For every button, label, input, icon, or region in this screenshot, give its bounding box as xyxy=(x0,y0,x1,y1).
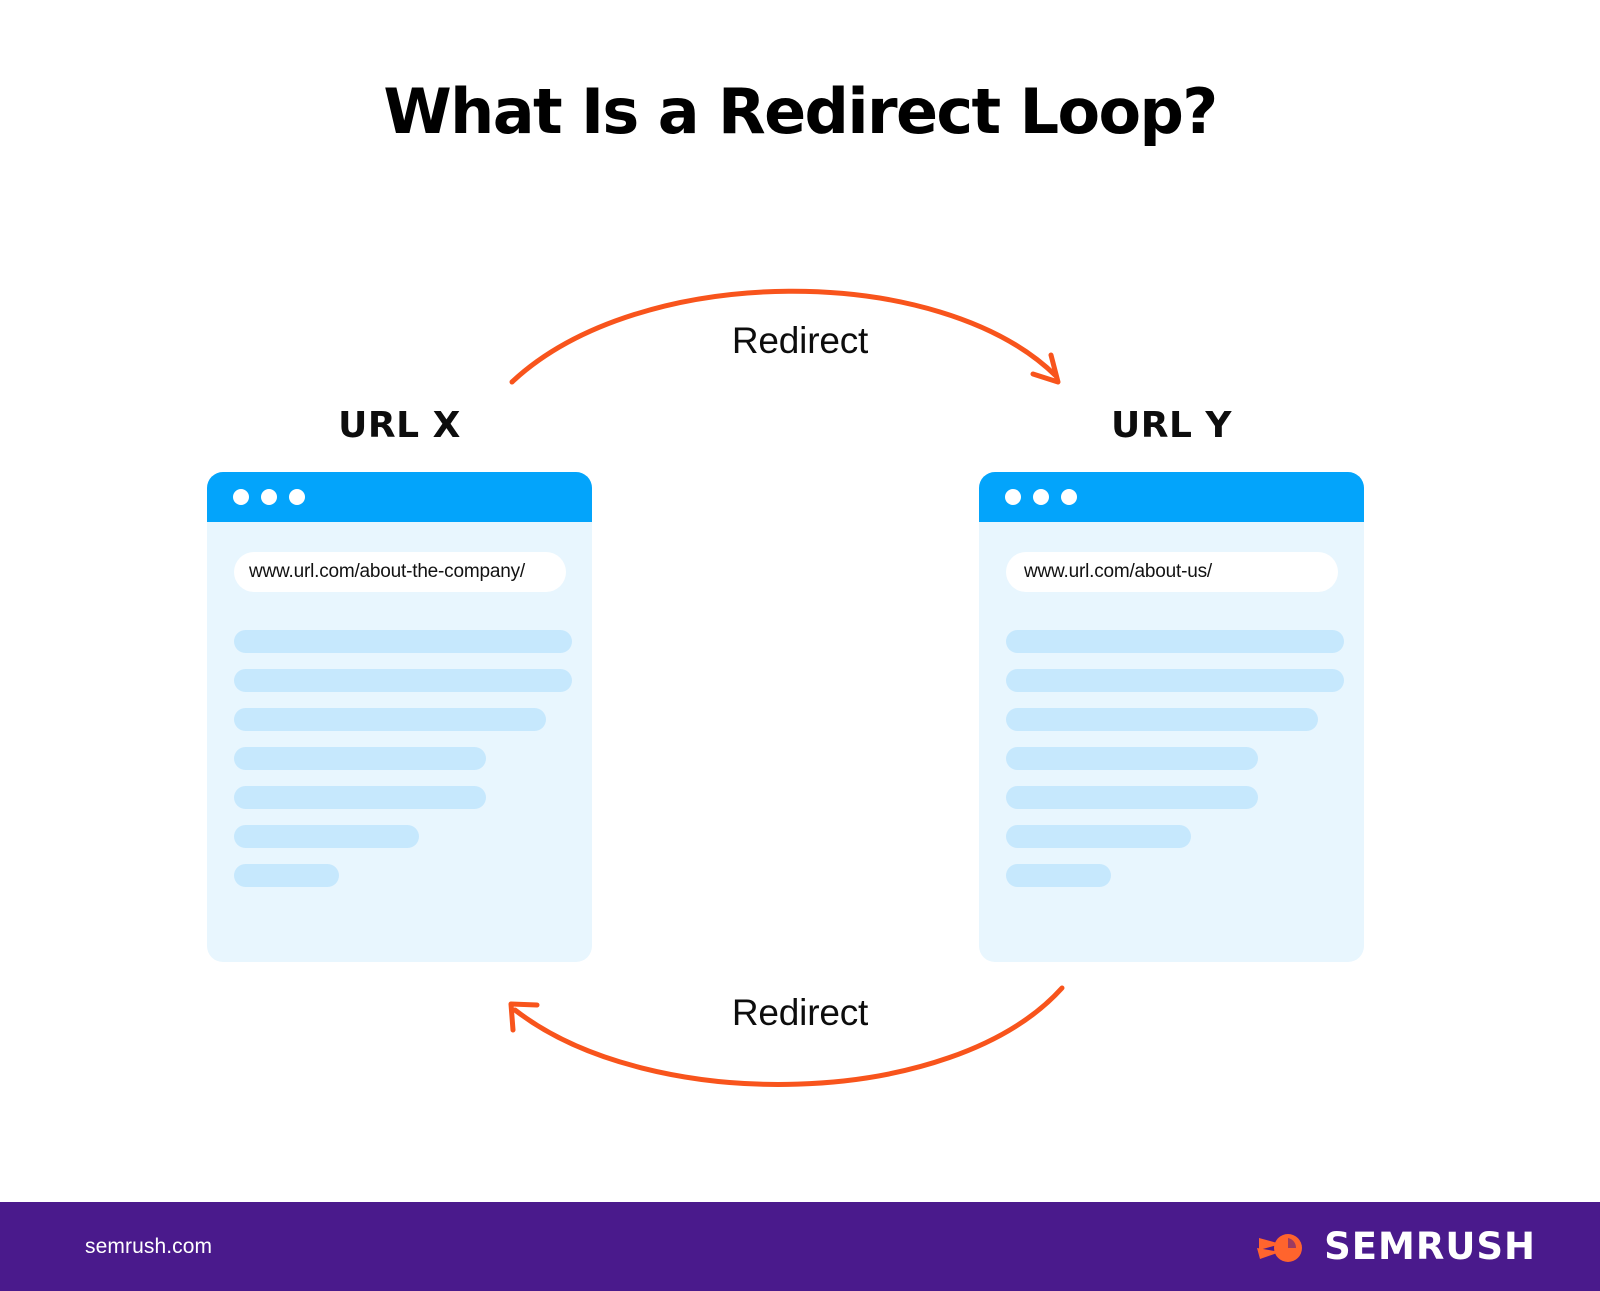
skeleton-line xyxy=(1006,864,1111,887)
skeleton-line xyxy=(234,708,546,731)
window-dot-icon xyxy=(261,489,277,505)
skeleton-line xyxy=(1006,630,1344,653)
semrush-brand[interactable]: SEMRUSH xyxy=(1256,1225,1536,1268)
skeleton-line xyxy=(1006,825,1191,848)
address-bar-x[interactable]: www.url.com/about-the-company/ xyxy=(234,552,566,592)
skeleton-line xyxy=(1006,708,1318,731)
browser-card-left: URL X www.url.com/about-the-company/ xyxy=(207,404,592,962)
url-y-heading: URL Y xyxy=(979,404,1364,448)
skeleton-line xyxy=(1006,669,1344,692)
window-dot-icon xyxy=(1005,489,1021,505)
content-skeleton-y xyxy=(1006,630,1364,903)
redirect-loop-diagram: Redirect Redirect URL X www.url.com/abou… xyxy=(0,0,1600,1202)
semrush-wordmark: SEMRUSH xyxy=(1324,1225,1536,1268)
skeleton-line xyxy=(1006,786,1258,809)
skeleton-line xyxy=(234,747,486,770)
browser-titlebar-x xyxy=(207,472,592,522)
redirect-label-bottom: Redirect xyxy=(0,992,1600,1034)
browser-window-x: www.url.com/about-the-company/ xyxy=(207,472,592,962)
skeleton-line xyxy=(1006,747,1258,770)
skeleton-line xyxy=(234,669,572,692)
footer-bar: semrush.com SEMRUSH xyxy=(0,1202,1600,1291)
infographic-page: What Is a Redirect Loop? Redirect Redire… xyxy=(0,0,1600,1291)
skeleton-line xyxy=(234,825,419,848)
skeleton-line xyxy=(234,864,339,887)
skeleton-line xyxy=(234,786,486,809)
window-dot-icon xyxy=(233,489,249,505)
window-dot-icon xyxy=(1033,489,1049,505)
address-bar-y[interactable]: www.url.com/about-us/ xyxy=(1006,552,1338,592)
browser-titlebar-y xyxy=(979,472,1364,522)
skeleton-line xyxy=(234,630,572,653)
footer-site-url[interactable]: semrush.com xyxy=(85,1235,212,1259)
semrush-comet-logo-icon xyxy=(1256,1226,1308,1268)
content-skeleton-x xyxy=(234,630,592,903)
browser-card-right: URL Y www.url.com/about-us/ xyxy=(979,404,1364,962)
window-dot-icon xyxy=(289,489,305,505)
redirect-label-top: Redirect xyxy=(0,320,1600,362)
browser-window-y: www.url.com/about-us/ xyxy=(979,472,1364,962)
url-x-heading: URL X xyxy=(207,404,592,448)
window-dot-icon xyxy=(1061,489,1077,505)
